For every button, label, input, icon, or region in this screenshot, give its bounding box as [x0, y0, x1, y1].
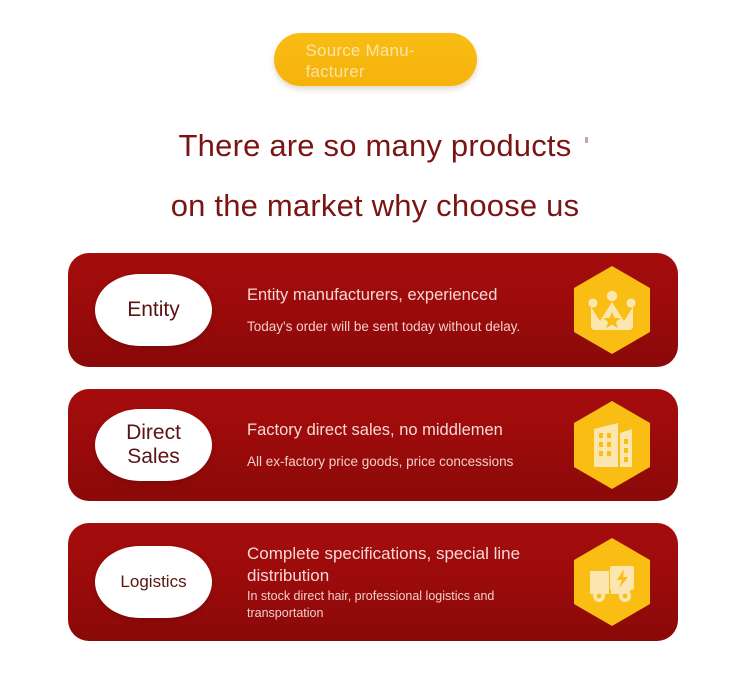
decorative-mark [585, 137, 588, 143]
pill-label: Entity [127, 298, 180, 322]
feature-card-direct-sales[interactable]: Direct Sales Factory direct sales, no mi… [68, 389, 678, 501]
card-title: Factory direct sales, no middlemen [247, 420, 562, 441]
card-body: Factory direct sales, no middlemen All e… [247, 420, 570, 471]
card-body: Complete specifications, special line di… [247, 543, 570, 622]
feature-card-logistics[interactable]: Logistics Complete specifications, speci… [68, 523, 678, 641]
card-title: Complete specifications, special line di… [247, 543, 562, 587]
card-pill-direct-sales: Direct Sales [95, 409, 212, 481]
page-title-line-2: on the market why choose us [0, 176, 750, 236]
feature-card-entity[interactable]: Entity Entity manufacturers, experienced… [68, 253, 678, 367]
source-manufacturer-badge[interactable]: Source Manu- facturer [274, 33, 477, 86]
building-icon [570, 399, 654, 491]
card-pill-logistics: Logistics [95, 546, 212, 618]
badge-container: Source Manu- facturer [0, 33, 750, 86]
page-title-line-1: There are so many products [0, 116, 750, 176]
pill-label: Logistics [120, 570, 186, 594]
page-title: There are so many products on the market… [0, 116, 750, 236]
card-subtitle: In stock direct hair, professional logis… [247, 588, 562, 622]
feature-card-list: Entity Entity manufacturers, experienced… [68, 253, 678, 641]
card-subtitle: Today's order will be sent today without… [247, 318, 562, 336]
card-pill-entity: Entity [95, 274, 212, 346]
card-subtitle: All ex-factory price goods, price conces… [247, 453, 562, 471]
pill-label: Direct Sales [126, 421, 181, 469]
card-title: Entity manufacturers, experienced [247, 285, 562, 306]
crown-icon [570, 264, 654, 356]
badge-label: Source Manu- facturer [306, 40, 446, 82]
delivery-truck-icon [570, 536, 654, 628]
card-body: Entity manufacturers, experienced Today'… [247, 285, 570, 336]
